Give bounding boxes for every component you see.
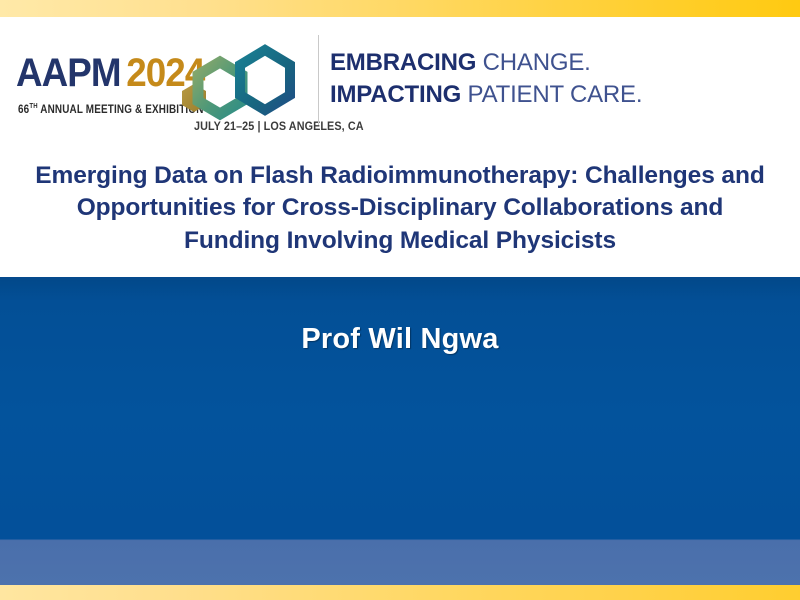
title-block: Emerging Data on Flash Radioimmunotherap… — [0, 140, 800, 277]
bottom-gold-bar — [0, 585, 800, 600]
tagline-line-2-strong: IMPACTING — [330, 81, 461, 108]
tagline-line-2: IMPACTING PATIENT CARE. — [330, 79, 642, 111]
tagline-line-1: EMBRACING CHANGE. — [330, 47, 642, 79]
aapm-meeting-number: 66 — [18, 104, 29, 116]
top-gold-bar — [0, 0, 800, 17]
presentation-title: Emerging Data on Flash Radioimmunotherap… — [30, 160, 770, 257]
speaker-panel: Prof Wil Ngwa — [0, 277, 800, 585]
event-date-location: JULY 21–25 | LOS ANGELES, CA — [194, 119, 364, 133]
header-divider — [318, 35, 319, 125]
conference-tagline: EMBRACING CHANGE. IMPACTING PATIENT CARE… — [330, 47, 642, 110]
tagline-line-1-light: CHANGE. — [476, 49, 590, 76]
tagline-line-2-light: PATIENT CARE. — [461, 81, 642, 108]
hexagon-logo-mark — [168, 37, 308, 129]
slide-header: AAPM2024 66TH ANNUAL MEETING & EXHIBITIO… — [0, 17, 800, 140]
presentation-slide: AAPM2024 66TH ANNUAL MEETING & EXHIBITIO… — [0, 0, 800, 600]
aapm-wordmark-text: AAPM — [16, 51, 121, 95]
aapm-meeting-ordinal: TH — [29, 103, 37, 110]
aapm-logo-lockup: AAPM2024 66TH ANNUAL MEETING & EXHIBITIO… — [16, 31, 316, 135]
tagline-line-1-strong: EMBRACING — [330, 49, 476, 76]
speaker-name: Prof Wil Ngwa — [0, 323, 800, 356]
